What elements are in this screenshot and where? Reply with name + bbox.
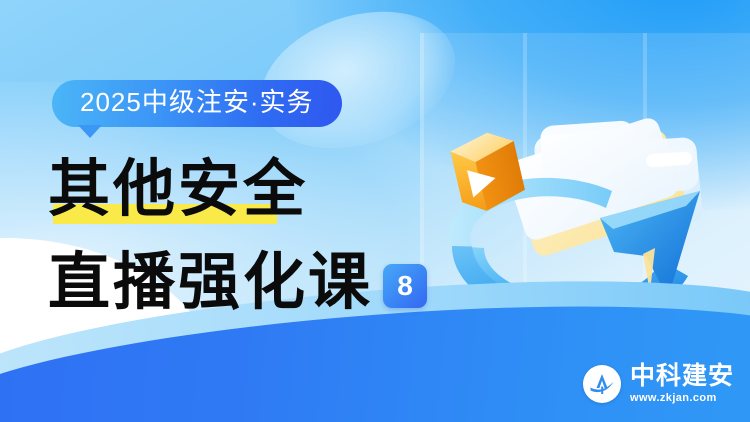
brand-logo-text: 中科建安 www.zkjan.com [630,364,734,404]
course-tag-tail [78,125,102,138]
course-tag-label: 2025中级注安·实务 [80,87,314,117]
headline-line-1: 其他安全 [48,152,308,226]
course-banner: 2025中级注安·实务 其他安全 直播强化课 8 中科建安 www.zkjan.… [0,0,750,422]
course-tag-wrapper: 2025中级注安·实务 [52,80,342,127]
headline-block: 其他安全 直播强化课 8 [48,152,427,322]
brand-website-url: www.zkjan.com [630,393,734,404]
headline-line-2: 直播强化课 [48,245,373,319]
brand-logo[interactable]: 中科建安 www.zkjan.com [583,364,734,404]
zkjan-emblem-icon [583,365,621,403]
headline-line-1-row: 其他安全 [48,152,427,230]
brand-name-cn: 中科建安 [630,364,734,389]
headline-line-2-row: 直播强化课 8 [48,242,427,322]
course-tag-badge[interactable]: 2025中级注安·实务 [52,80,342,127]
episode-number-badge: 8 [383,264,427,308]
